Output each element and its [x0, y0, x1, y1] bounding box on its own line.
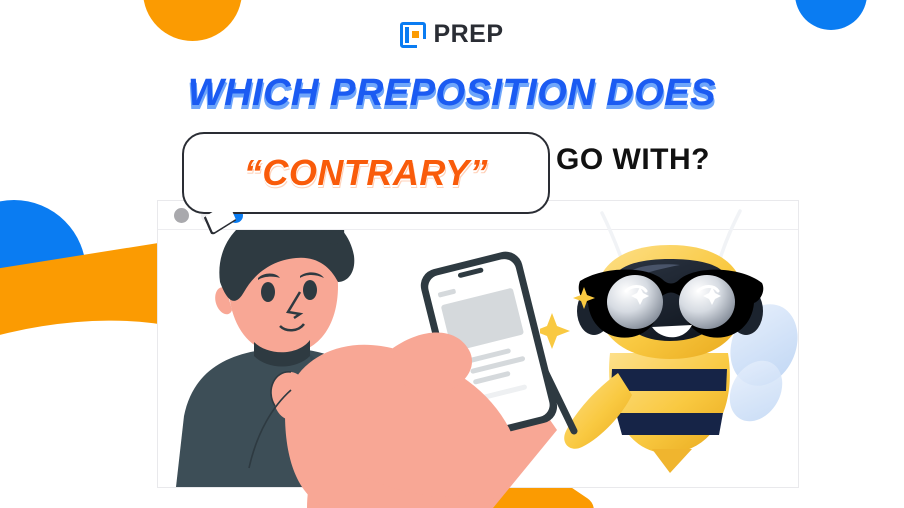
brand-name: PREP — [433, 20, 503, 49]
thumbnail-canvas: PREP WHICH PREPOSITION DOES GO WITH? — [0, 0, 904, 508]
speech-bubble-text: “CONTRARY” — [244, 152, 488, 194]
brand-logo: PREP — [0, 20, 904, 49]
title-suffix: GO WITH? — [556, 143, 710, 177]
page-title: WHICH PREPOSITION DOES — [0, 72, 904, 115]
prep-logo-icon — [400, 22, 426, 48]
window-dot-grey[interactable] — [174, 208, 189, 223]
speech-bubble: “CONTRARY” — [182, 132, 550, 214]
bee-robot-mascot — [540, 205, 830, 495]
